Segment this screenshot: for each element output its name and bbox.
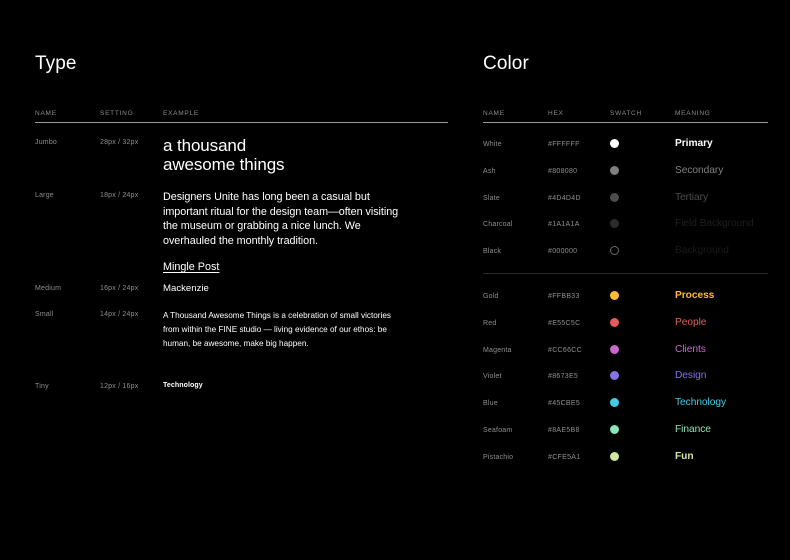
table-row: Gold#FFBB33Process bbox=[483, 289, 768, 303]
color-column-header-swatch: SWATCH bbox=[610, 109, 642, 118]
type-row-setting: 28px / 32px bbox=[100, 138, 138, 148]
swatch-circle-icon bbox=[610, 291, 619, 300]
color-swatch-cell bbox=[610, 191, 624, 205]
color-row-hex: #FFBB33 bbox=[548, 292, 580, 301]
swatch-circle-icon bbox=[610, 345, 619, 354]
swatch-circle-icon bbox=[610, 166, 619, 175]
color-row-name: Blue bbox=[483, 399, 498, 408]
color-row-name: Black bbox=[483, 247, 501, 256]
type-row-name: Tiny bbox=[35, 382, 49, 392]
color-row-hex: #000000 bbox=[548, 247, 577, 256]
swatch-circle-icon bbox=[610, 139, 619, 148]
type-row-setting: 12px / 16px bbox=[100, 382, 138, 392]
swatch-circle-icon bbox=[610, 246, 619, 255]
color-panel-title: Color bbox=[483, 53, 529, 75]
color-row-meaning: Field Background bbox=[675, 217, 753, 231]
color-row-meaning: Secondary bbox=[675, 164, 723, 178]
table-row: Magenta#CC66CCClients bbox=[483, 343, 768, 357]
color-row-name: Red bbox=[483, 319, 496, 328]
color-swatch-cell bbox=[610, 423, 624, 437]
table-row: Seafoam#8AE5B8Finance bbox=[483, 423, 768, 437]
type-row-example: Mackenzie bbox=[163, 282, 209, 296]
mingle-post-link[interactable]: Mingle Post bbox=[163, 260, 219, 275]
table-row: Red#E55C5CPeople bbox=[483, 316, 768, 330]
color-row-meaning: Finance bbox=[675, 423, 711, 437]
color-row-name: White bbox=[483, 140, 502, 149]
color-row-meaning: Design bbox=[675, 369, 706, 383]
type-row-setting: 14px / 24px bbox=[100, 310, 138, 320]
color-group-divider bbox=[483, 273, 768, 274]
table-row: Charcoal#1A1A1AField Background bbox=[483, 217, 768, 231]
color-row-hex: #E55C5C bbox=[548, 319, 580, 328]
color-row-meaning: Background bbox=[675, 244, 729, 258]
color-row-meaning: Tertiary bbox=[675, 191, 708, 205]
style-guide-page: Type NAME SETTING EXAMPLE Jumbo 28px / 3… bbox=[0, 0, 790, 560]
type-row-example: A Thousand Awesome Things is a celebrati… bbox=[163, 309, 393, 351]
table-row: Black#000000Background bbox=[483, 244, 768, 258]
color-swatch-cell bbox=[610, 369, 624, 383]
swatch-circle-icon bbox=[610, 318, 619, 327]
swatch-circle-icon bbox=[610, 219, 619, 228]
type-row-name: Large bbox=[35, 191, 54, 201]
color-row-hex: #8673E5 bbox=[548, 372, 578, 381]
table-row: Pistachio#CFE5A1Fun bbox=[483, 450, 768, 464]
type-column-header-example: EXAMPLE bbox=[163, 109, 199, 118]
type-row-example: Designers Unite has long been a casual b… bbox=[163, 190, 408, 248]
type-column-header-setting: SETTING bbox=[100, 109, 133, 118]
color-swatch-cell bbox=[610, 244, 624, 258]
swatch-circle-icon bbox=[610, 371, 619, 380]
color-row-name: Charcoal bbox=[483, 220, 513, 229]
color-row-name: Violet bbox=[483, 372, 502, 381]
type-table-header: NAME SETTING EXAMPLE bbox=[35, 109, 448, 123]
color-row-meaning: People bbox=[675, 316, 706, 330]
table-row: Slate#4D4D4DTertiary bbox=[483, 191, 768, 205]
color-row-name: Seafoam bbox=[483, 426, 512, 435]
type-row-example: Technology bbox=[163, 381, 203, 391]
swatch-circle-icon bbox=[610, 425, 619, 434]
color-row-name: Ash bbox=[483, 167, 496, 176]
color-swatch-cell bbox=[610, 450, 624, 464]
color-swatch-cell bbox=[610, 316, 624, 330]
swatch-circle-icon bbox=[610, 398, 619, 407]
type-row-name: Medium bbox=[35, 284, 61, 294]
color-column-header-meaning: MEANING bbox=[675, 109, 711, 118]
type-panel-title: Type bbox=[35, 53, 77, 75]
color-row-hex: #CFE5A1 bbox=[548, 453, 580, 462]
color-table-header: NAME HEX SWATCH MEANING bbox=[483, 109, 768, 123]
table-row: Blue#45CBE5Technology bbox=[483, 396, 768, 410]
color-swatch-cell bbox=[610, 289, 624, 303]
color-row-hex: #1A1A1A bbox=[548, 220, 580, 229]
color-row-meaning: Fun bbox=[675, 450, 694, 464]
color-swatch-cell bbox=[610, 164, 624, 178]
swatch-circle-icon bbox=[610, 452, 619, 461]
table-row: Violet#8673E5Design bbox=[483, 369, 768, 383]
color-row-meaning: Process bbox=[675, 289, 714, 303]
color-row-meaning: Technology bbox=[675, 396, 726, 410]
color-table-divider bbox=[483, 122, 768, 123]
swatch-circle-icon bbox=[610, 193, 619, 202]
type-row-name: Small bbox=[35, 310, 54, 320]
color-row-hex: #45CBE5 bbox=[548, 399, 580, 408]
color-row-name: Pistachio bbox=[483, 453, 513, 462]
color-row-meaning: Clients bbox=[675, 343, 706, 357]
color-row-name: Gold bbox=[483, 292, 499, 301]
table-row: White#FFFFFFPrimary bbox=[483, 137, 768, 151]
color-row-hex: #4D4D4D bbox=[548, 194, 581, 203]
color-swatch-cell bbox=[610, 396, 624, 410]
color-row-hex: #808080 bbox=[548, 167, 577, 176]
color-swatch-cell bbox=[610, 137, 624, 151]
color-column-header-name: NAME bbox=[483, 109, 505, 118]
type-row-example: a thousand awesome things bbox=[163, 136, 284, 174]
type-row-setting: 16px / 24px bbox=[100, 284, 138, 294]
color-row-name: Magenta bbox=[483, 346, 512, 355]
color-swatch-cell bbox=[610, 217, 624, 231]
color-row-name: Slate bbox=[483, 194, 500, 203]
color-swatch-cell bbox=[610, 343, 624, 357]
color-row-meaning: Primary bbox=[675, 137, 713, 151]
type-column-header-name: NAME bbox=[35, 109, 57, 118]
color-column-header-hex: HEX bbox=[548, 109, 564, 118]
color-row-hex: #CC66CC bbox=[548, 346, 582, 355]
color-row-hex: #FFFFFF bbox=[548, 140, 580, 149]
type-row-setting: 18px / 24px bbox=[100, 191, 138, 201]
type-row-name: Jumbo bbox=[35, 138, 57, 148]
table-row: Ash#808080Secondary bbox=[483, 164, 768, 178]
color-row-hex: #8AE5B8 bbox=[548, 426, 580, 435]
type-table-divider bbox=[35, 122, 448, 123]
